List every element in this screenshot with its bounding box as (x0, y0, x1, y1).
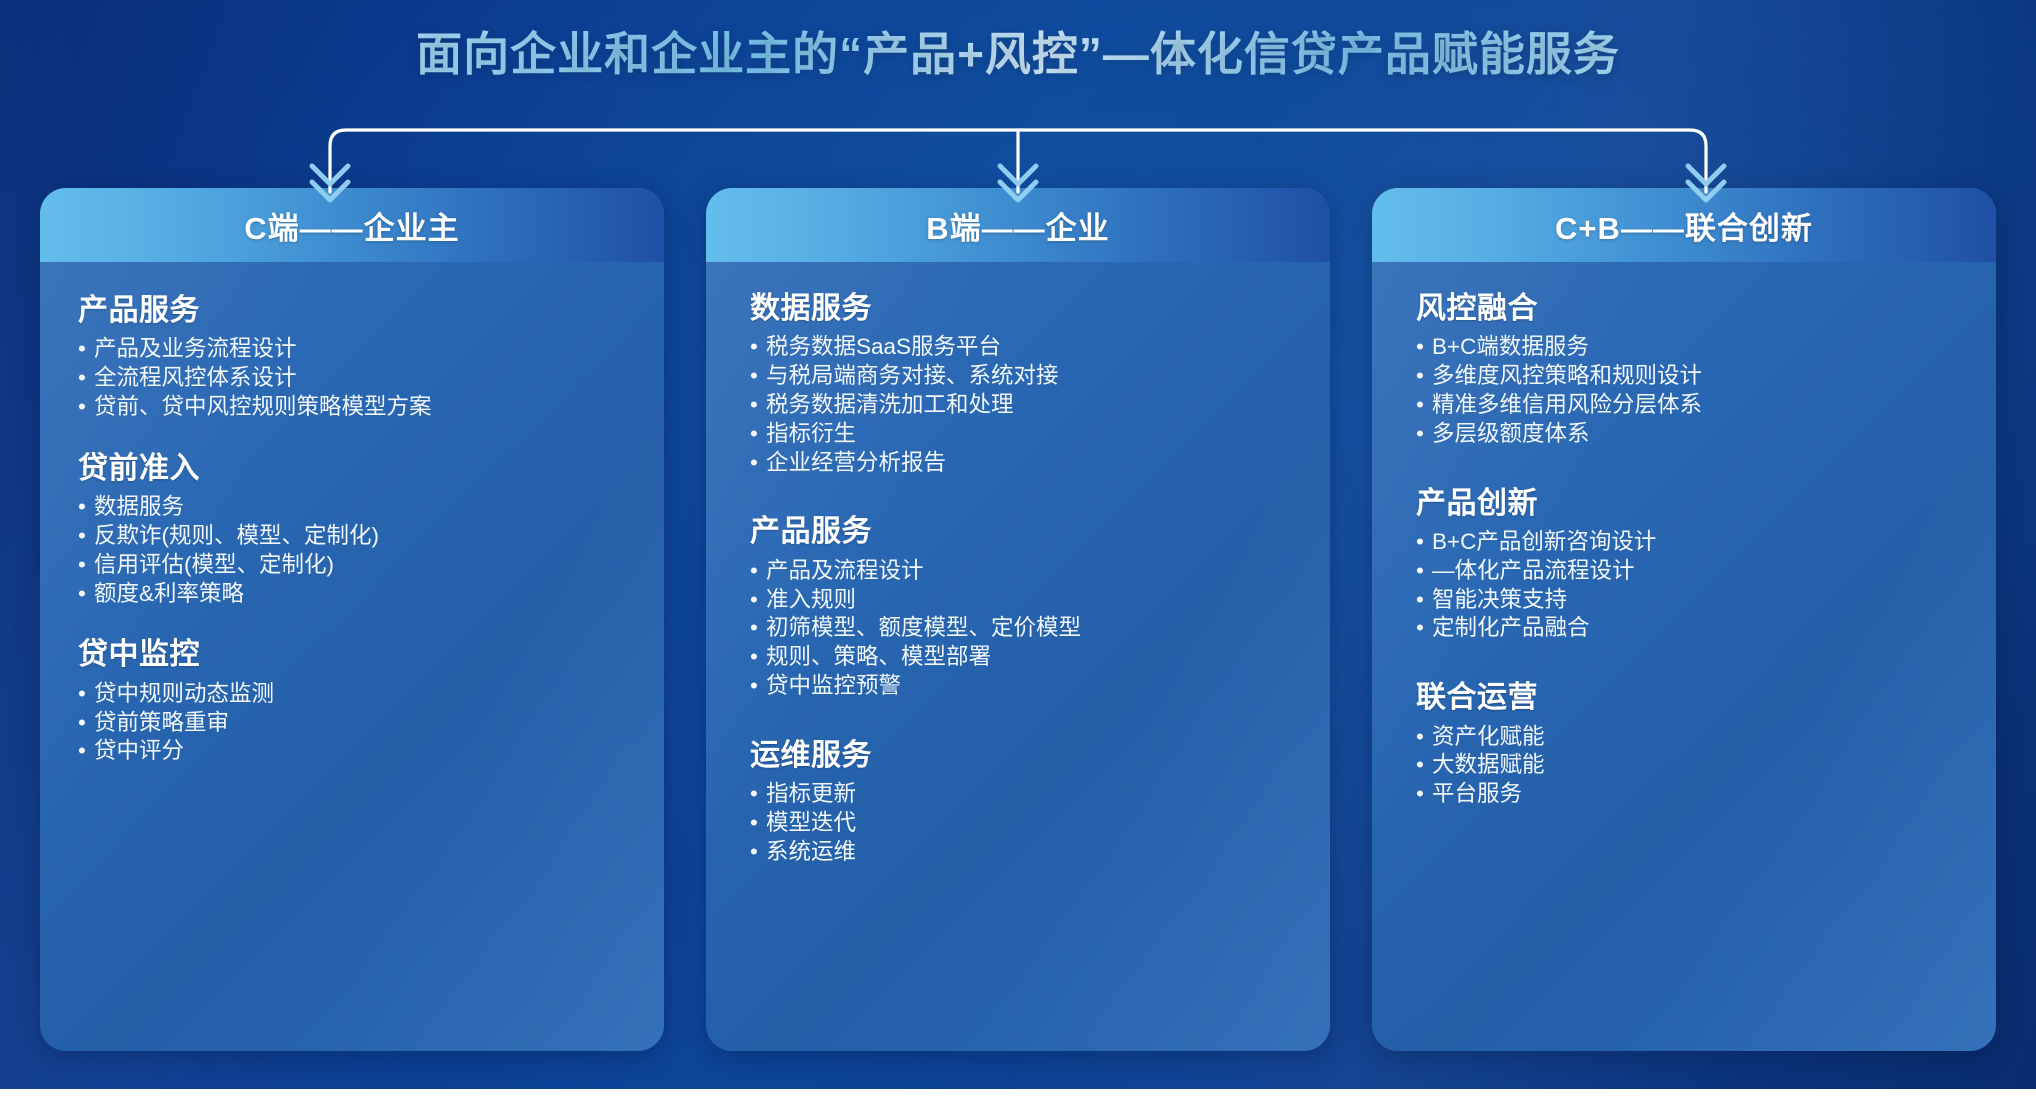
list-item: —体化产品流程设计 (1416, 557, 1968, 586)
list-item: B+C产品创新咨询设计 (1416, 528, 1968, 557)
section-block: 产品创新 B+C产品创新咨询设计 —体化产品流程设计 智能决策支持 定制化产品融… (1416, 483, 1968, 644)
bottom-margin (0, 1089, 2036, 1110)
list-item: 智能决策支持 (1416, 586, 1968, 615)
section-title: 贷中监控 (78, 634, 636, 675)
section-title: 贷前准入 (78, 448, 636, 489)
card-header-title: B端——企业 (926, 203, 1109, 248)
section-block: 数据服务 税务数据SaaS服务平台 与税局端商务对接、系统对接 税务数据清洗加工… (750, 288, 1302, 477)
section-title: 产品服务 (750, 511, 1302, 552)
section-title: 联合运营 (1416, 677, 1968, 718)
section-block: 风控融合 B+C端数据服务 多维度风控策略和规则设计 精准多维信用风险分层体系 … (1416, 288, 1968, 449)
connector-bracket (318, 120, 1718, 198)
bullet-list: 产品及流程设计 准入规则 初筛模型、额度模型、定价模型 规则、策略、模型部署 贷… (750, 557, 1302, 701)
list-item: 准入规则 (750, 586, 1302, 615)
section-block: 运维服务 指标更新 模型迭代 系统运维 (750, 735, 1302, 867)
list-item: 数据服务 (78, 493, 636, 522)
card-header: C端——企业主 (40, 188, 664, 262)
bullet-list: 指标更新 模型迭代 系统运维 (750, 780, 1302, 866)
section-block: 贷中监控 贷中规则动态监测 贷前策略重审 贷中评分 (78, 634, 636, 766)
page-title-container: 面向企业和企业主的“产品+风控”—体化信贷产品赋能服务 (0, 26, 2036, 84)
list-item: 精准多维信用风险分层体系 (1416, 391, 1968, 420)
list-item: 资产化赋能 (1416, 723, 1968, 752)
list-item: 系统运维 (750, 838, 1302, 867)
bullet-list: 资产化赋能 大数据赋能 平台服务 (1416, 723, 1968, 809)
section-block: 联合运营 资产化赋能 大数据赋能 平台服务 (1416, 677, 1968, 809)
bullet-list: 贷中规则动态监测 贷前策略重审 贷中评分 (78, 680, 636, 766)
bullet-list: 数据服务 反欺诈(规则、模型、定制化) 信用评估(模型、定制化) 额度&利率策略 (78, 493, 636, 608)
list-item: 税务数据清洗加工和处理 (750, 391, 1302, 420)
card-header-title: C端——企业主 (244, 203, 459, 248)
card-body: 数据服务 税务数据SaaS服务平台 与税局端商务对接、系统对接 税务数据清洗加工… (706, 262, 1330, 927)
list-item: 贷中监控预警 (750, 672, 1302, 701)
list-item: 产品及流程设计 (750, 557, 1302, 586)
list-item: B+C端数据服务 (1416, 333, 1968, 362)
card-c-plus-b: C+B——联合创新 风控融合 B+C端数据服务 多维度风控策略和规则设计 精准多… (1372, 188, 1996, 1051)
section-title: 产品创新 (1416, 483, 1968, 524)
list-item: 产品及业务流程设计 (78, 335, 636, 364)
bullet-list: 税务数据SaaS服务平台 与税局端商务对接、系统对接 税务数据清洗加工和处理 指… (750, 333, 1302, 477)
list-item: 贷前策略重审 (78, 709, 636, 738)
card-header: B端——企业 (706, 188, 1330, 262)
card-body: 风控融合 B+C端数据服务 多维度风控策略和规则设计 精准多维信用风险分层体系 … (1372, 262, 1996, 869)
cards-row: C端——企业主 产品服务 产品及业务流程设计 全流程风控体系设计 贷前、贷中风控… (40, 188, 1996, 1051)
list-item: 大数据赋能 (1416, 751, 1968, 780)
list-item: 指标更新 (750, 780, 1302, 809)
page-title: 面向企业和企业主的“产品+风控”—体化信贷产品赋能服务 (416, 26, 1620, 84)
card-header: C+B——联合创新 (1372, 188, 1996, 262)
section-title: 运维服务 (750, 735, 1302, 776)
list-item: 反欺诈(规则、模型、定制化) (78, 522, 636, 551)
slide-canvas: 面向企业和企业主的“产品+风控”—体化信贷产品赋能服务 C端——企业主 (0, 0, 2036, 1089)
list-item: 与税局端商务对接、系统对接 (750, 362, 1302, 391)
list-item: 规则、策略、模型部署 (750, 643, 1302, 672)
section-title: 数据服务 (750, 288, 1302, 329)
section-title: 风控融合 (1416, 288, 1968, 329)
list-item: 全流程风控体系设计 (78, 364, 636, 393)
section-title: 产品服务 (78, 290, 636, 331)
section-block: 产品服务 产品及业务流程设计 全流程风控体系设计 贷前、贷中风控规则策略模型方案 (78, 290, 636, 422)
card-c-end: C端——企业主 产品服务 产品及业务流程设计 全流程风控体系设计 贷前、贷中风控… (40, 188, 664, 1051)
list-item: 贷中评分 (78, 737, 636, 766)
list-item: 模型迭代 (750, 809, 1302, 838)
card-b-end: B端——企业 数据服务 税务数据SaaS服务平台 与税局端商务对接、系统对接 税… (706, 188, 1330, 1051)
list-item: 初筛模型、额度模型、定价模型 (750, 614, 1302, 643)
bullet-list: B+C端数据服务 多维度风控策略和规则设计 精准多维信用风险分层体系 多层级额度… (1416, 333, 1968, 448)
card-body: 产品服务 产品及业务流程设计 全流程风控体系设计 贷前、贷中风控规则策略模型方案… (40, 262, 664, 792)
bullet-list: 产品及业务流程设计 全流程风控体系设计 贷前、贷中风控规则策略模型方案 (78, 335, 636, 421)
list-item: 税务数据SaaS服务平台 (750, 333, 1302, 362)
list-item: 多维度风控策略和规则设计 (1416, 362, 1968, 391)
bullet-list: B+C产品创新咨询设计 —体化产品流程设计 智能决策支持 定制化产品融合 (1416, 528, 1968, 643)
section-block: 贷前准入 数据服务 反欺诈(规则、模型、定制化) 信用评估(模型、定制化) 额度… (78, 448, 636, 609)
list-item: 信用评估(模型、定制化) (78, 551, 636, 580)
list-item: 额度&利率策略 (78, 580, 636, 609)
list-item: 贷前、贷中风控规则策略模型方案 (78, 393, 636, 422)
card-header-title: C+B——联合创新 (1555, 203, 1813, 248)
section-block: 产品服务 产品及流程设计 准入规则 初筛模型、额度模型、定价模型 规则、策略、模… (750, 511, 1302, 700)
list-item: 企业经营分析报告 (750, 449, 1302, 478)
list-item: 贷中规则动态监测 (78, 680, 636, 709)
list-item: 定制化产品融合 (1416, 614, 1968, 643)
list-item: 多层级额度体系 (1416, 420, 1968, 449)
list-item: 平台服务 (1416, 780, 1968, 809)
list-item: 指标衍生 (750, 420, 1302, 449)
